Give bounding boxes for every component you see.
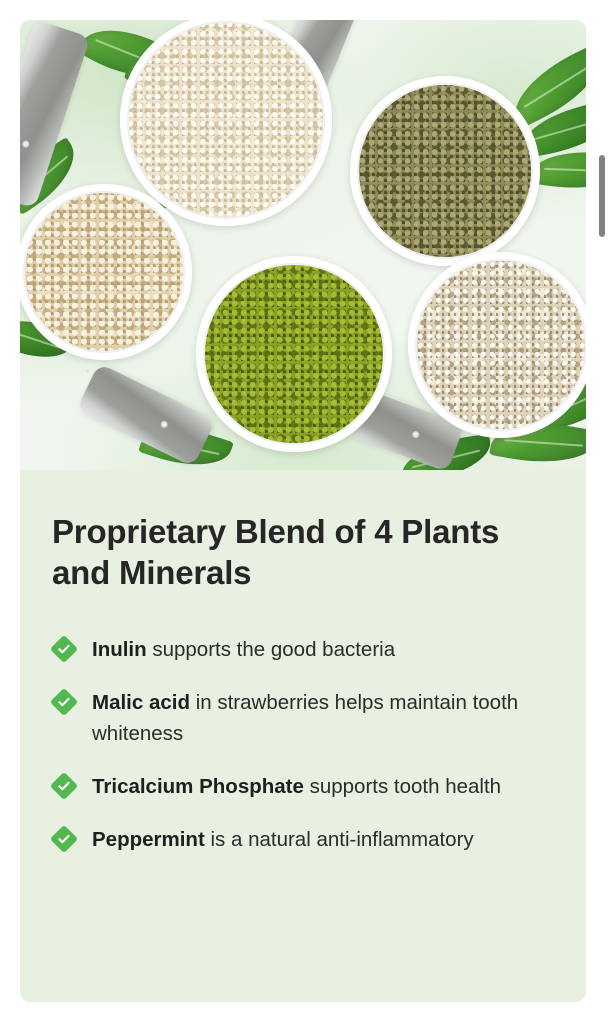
list-item: Inulin supports the good bacteria	[52, 634, 552, 665]
check-diamond-icon	[52, 774, 76, 798]
check-diamond-icon	[52, 637, 76, 661]
check-diamond-icon	[52, 827, 76, 851]
benefits-panel: Proprietary Blend of 4 Plants and Minera…	[20, 470, 586, 1002]
benefit-text: Inulin supports the good bacteria	[92, 634, 395, 665]
benefits-list: Inulin supports the good bacteria Malic …	[52, 634, 552, 856]
benefit-text: Malic acid in strawberries helps maintai…	[92, 687, 522, 749]
page-root: Proprietary Blend of 4 Plants and Minera…	[0, 0, 608, 1024]
green-powder-scoop	[196, 256, 392, 452]
ingredients-photo	[20, 20, 586, 470]
benefit-text: Tricalcium Phosphate supports tooth heal…	[92, 771, 501, 802]
benefit-term: Tricalcium Phosphate	[92, 775, 304, 798]
page-title: Proprietary Blend of 4 Plants and Minera…	[52, 512, 512, 594]
benefit-term: Peppermint	[92, 828, 205, 851]
benefit-rest: supports the good bacteria	[147, 638, 395, 661]
benefit-term: Malic acid	[92, 691, 190, 714]
tan-powder-scoop	[20, 184, 192, 360]
list-item: Tricalcium Phosphate supports tooth heal…	[52, 771, 552, 802]
benefit-rest: is a natural anti-inflammatory	[205, 828, 474, 851]
oat-powder-scoop	[408, 252, 586, 438]
list-item: Malic acid in strawberries helps maintai…	[52, 687, 552, 749]
vertical-scrollbar[interactable]	[599, 155, 605, 237]
product-info-card: Proprietary Blend of 4 Plants and Minera…	[20, 20, 586, 1002]
benefit-text: Peppermint is a natural anti-inflammator…	[92, 824, 474, 855]
olive-powder-scoop	[350, 76, 540, 266]
check-diamond-icon	[52, 690, 76, 714]
benefit-term: Inulin	[92, 638, 147, 661]
benefit-rest: supports tooth health	[304, 775, 501, 798]
list-item: Peppermint is a natural anti-inflammator…	[52, 824, 552, 855]
